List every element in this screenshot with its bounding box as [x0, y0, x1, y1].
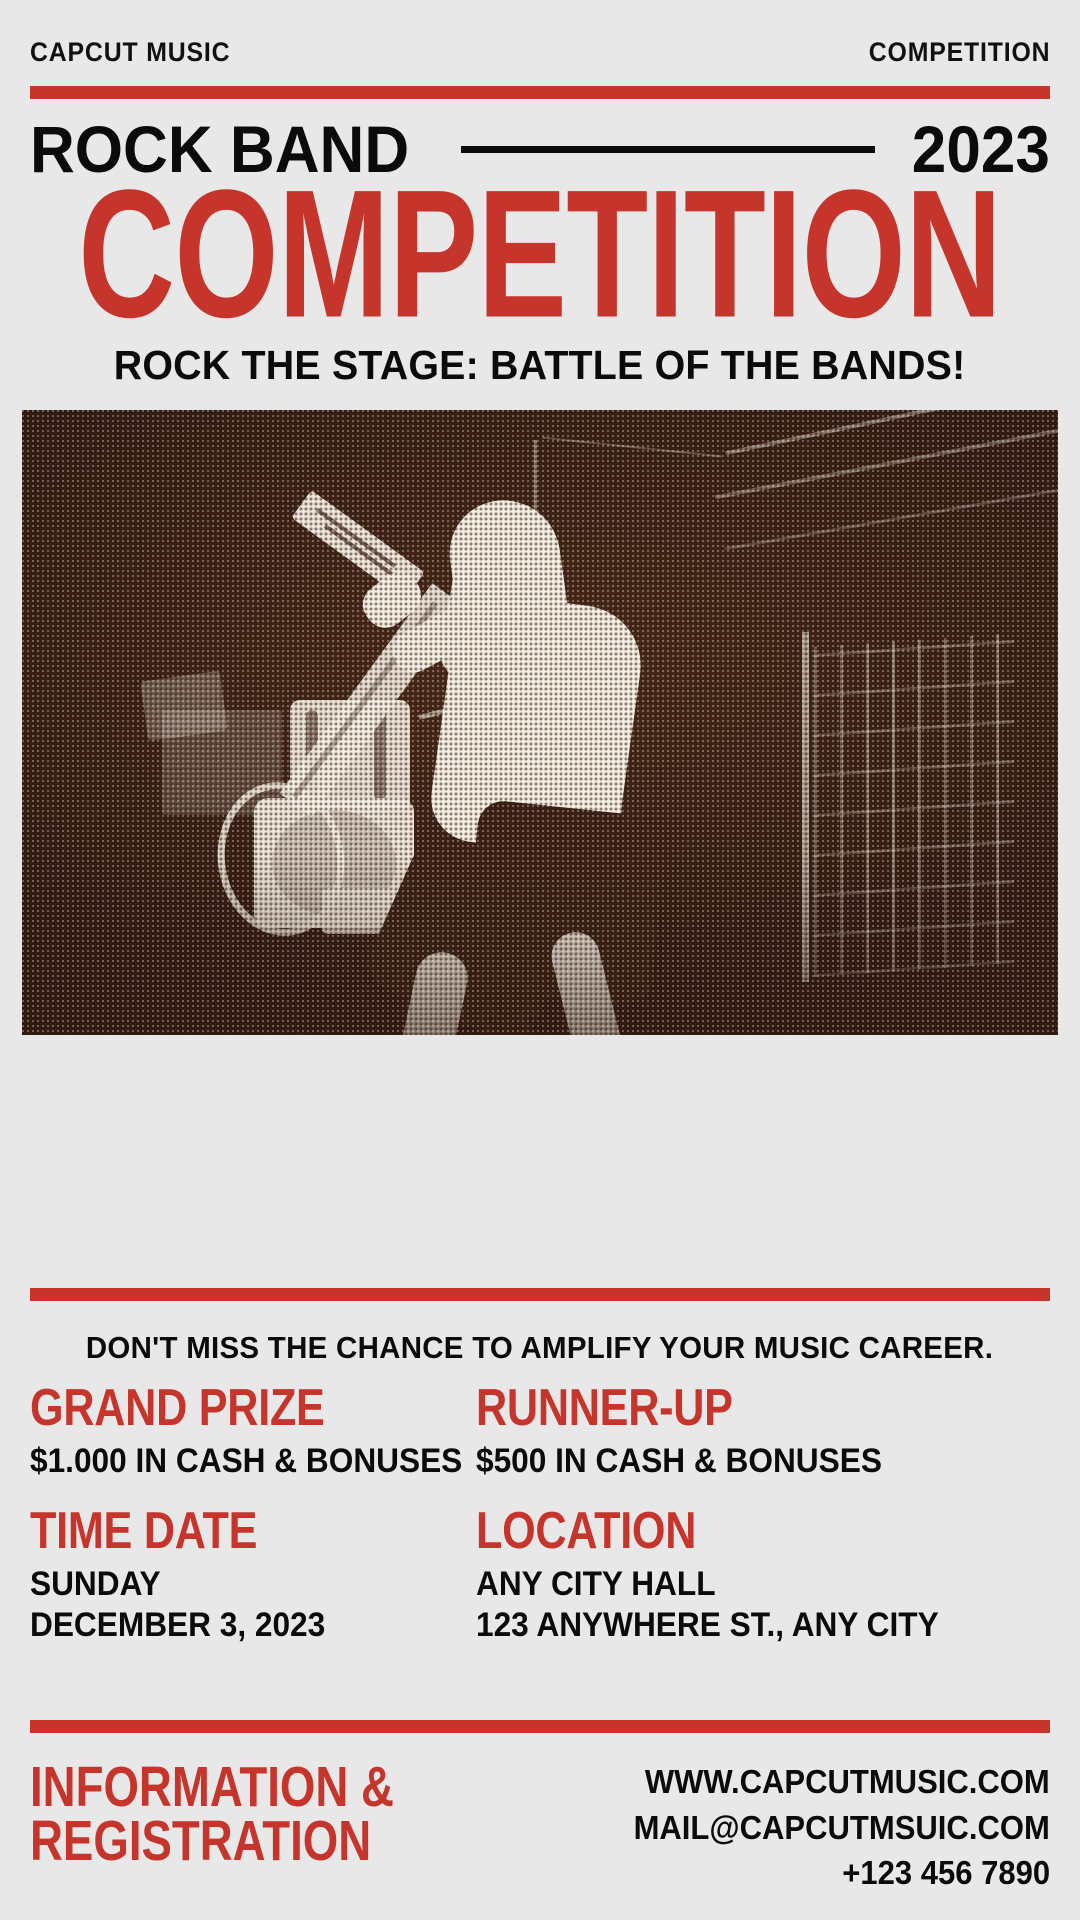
location-line2: 123 ANYWHERE ST., ANY CITY	[476, 1605, 1010, 1646]
amp-top	[140, 671, 228, 742]
footer-website[interactable]: WWW.CAPCUTMUSIC.COM	[645, 1760, 1050, 1804]
divider-bottom	[30, 1720, 1050, 1733]
hero-photo	[22, 410, 1058, 1035]
footer-contact-block: WWW.CAPCUTMUSIC.COM MAIL@CAPCUTMSUIC.COM…	[607, 1760, 1050, 1895]
hero-photo-scene	[22, 410, 1058, 1035]
grand-prize-heading: GRAND PRIZE	[30, 1382, 379, 1435]
tagline-text: ROCK THE STAGE: BATTLE OF THE BANDS!	[114, 342, 966, 389]
footer-title-line1: INFORMATION &	[30, 1760, 394, 1814]
floor-vignette	[22, 855, 1058, 1035]
section-label: COMPETITION	[868, 37, 1050, 68]
grand-prize-body: $1.000 IN CASH & BONUSES	[30, 1441, 421, 1482]
info-location: LOCATION ANY CITY HALL 123 ANYWHERE ST.,…	[476, 1505, 1050, 1647]
amplify-wrap: DON'T MISS THE CHANCE TO AMPLIFY YOUR MU…	[30, 1325, 1050, 1371]
divider-middle	[30, 1288, 1050, 1301]
info-grand-prize: GRAND PRIZE $1.000 IN CASH & BONUSES	[30, 1382, 450, 1483]
poster-header: CAPCUT MUSIC COMPETITION	[30, 30, 1050, 74]
info-grid: GRAND PRIZE $1.000 IN CASH & BONUSES RUN…	[30, 1382, 1050, 1646]
tagline-wrap: ROCK THE STAGE: BATTLE OF THE BANDS!	[30, 340, 1050, 390]
poster-footer: INFORMATION & REGISTRATION WWW.CAPCUTMUS…	[30, 1760, 1050, 1895]
runner-up-body: $500 IN CASH & BONUSES	[476, 1441, 1010, 1482]
runner-up-heading: RUNNER-UP	[476, 1382, 952, 1435]
amplify-text: DON'T MISS THE CHANCE TO AMPLIFY YOUR MU…	[86, 1330, 993, 1366]
divider-top	[30, 86, 1050, 99]
time-date-line2: DECEMBER 3, 2023	[30, 1605, 421, 1646]
hero-title-wrap: COMPETITION	[30, 182, 1050, 328]
time-date-heading: TIME DATE	[30, 1505, 379, 1558]
time-date-line1: SUNDAY	[30, 1564, 421, 1605]
location-line1: ANY CITY HALL	[476, 1564, 1010, 1605]
footer-email[interactable]: MAIL@CAPCUTMSUIC.COM	[634, 1806, 1050, 1850]
footer-title-block: INFORMATION & REGISTRATION	[30, 1760, 485, 1868]
footer-phone[interactable]: +123 456 7890	[842, 1851, 1050, 1895]
location-heading: LOCATION	[476, 1505, 952, 1558]
info-runner-up: RUNNER-UP $500 IN CASH & BONUSES	[476, 1382, 1050, 1483]
brand-label: CAPCUT MUSIC	[30, 37, 230, 68]
info-time-date: TIME DATE SUNDAY DECEMBER 3, 2023	[30, 1505, 450, 1647]
footer-title-line2: REGISTRATION	[30, 1814, 394, 1868]
poster-root: CAPCUT MUSIC COMPETITION ROCK BAND 2023 …	[0, 0, 1080, 1920]
page-title: COMPETITION	[78, 180, 1001, 329]
